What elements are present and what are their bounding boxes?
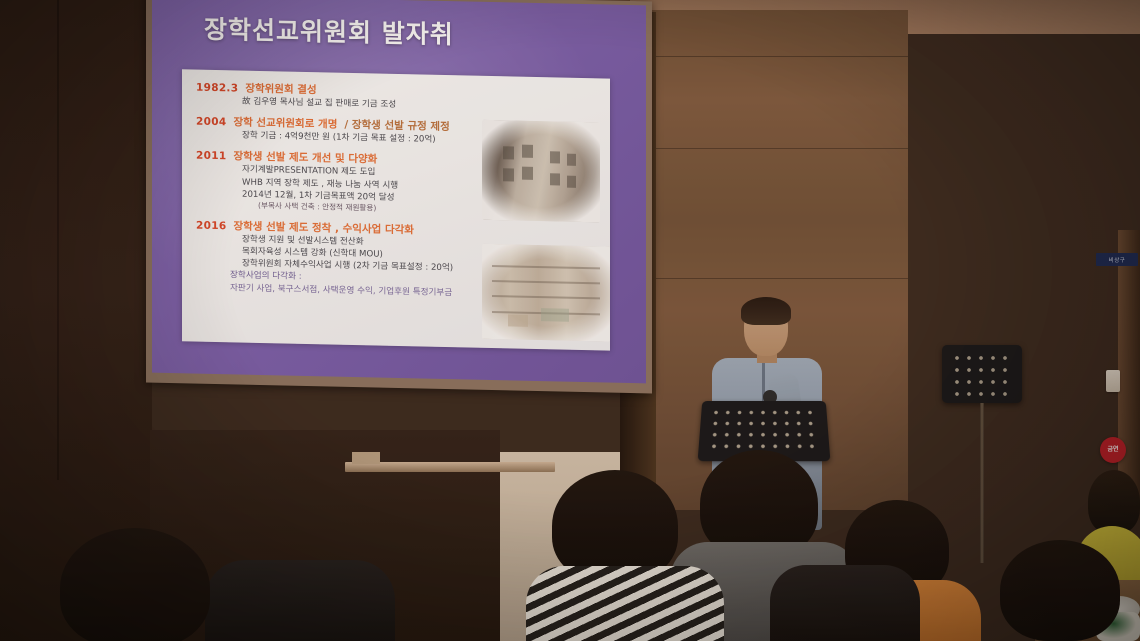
timeline-entry: 2011장학생 선발 제도 개선 및 다양화자기계발PRESENTATION 제… [196, 148, 496, 217]
entry-year: 2011 [196, 150, 226, 163]
audience-yellow-shirt [1088, 470, 1140, 534]
timeline-entry: 2004장학 선교위원회로 개명/ 장학생 선발 규정 제정장학 기금 : 4억… [196, 114, 496, 148]
no-smoking-sign: 금연 [1100, 437, 1126, 463]
photo-scene: 장학선교위원회 발자취 1982.3장학위원회 결성故 김우영 목사님 설교 집… [0, 0, 1140, 641]
audience-front-right [1000, 540, 1120, 641]
timeline-entries: 1982.3장학위원회 결성故 김우영 목사님 설교 집 판매로 기금 조성20… [196, 80, 496, 307]
timeline-entry: 2016장학생 선발 제도 정착 , 수익사업 다각화장학생 지원 및 선발시스… [196, 217, 496, 300]
presenter-hair [741, 297, 791, 325]
entry-heading-text: 장학위원회 결성 [245, 81, 316, 98]
bookstore-photo [482, 244, 610, 342]
entry-year: 1982.3 [196, 82, 238, 95]
ledge-object [352, 452, 380, 464]
exit-sign: 비상구 [1096, 253, 1138, 266]
light-switch[interactable] [1106, 370, 1120, 392]
building-photo [482, 120, 600, 223]
audience-gray-shirt [700, 450, 818, 558]
audience-front-left [60, 528, 210, 641]
entry-year: 2004 [196, 116, 226, 129]
slide-title: 장학선교위원회 발자취 [204, 10, 454, 51]
timeline-entry: 1982.3장학위원회 결성故 김우영 목사님 설교 집 판매로 기금 조성 [196, 80, 496, 114]
slide-content-box: 1982.3장학위원회 결성故 김우영 목사님 설교 집 판매로 기금 조성20… [182, 69, 610, 350]
audience-striped-shirt [552, 470, 678, 582]
right-wall [905, 22, 1140, 542]
entry-year: 2016 [196, 219, 226, 232]
music-stand-right [942, 345, 1022, 403]
chair-right [770, 565, 920, 641]
chair-left [205, 560, 395, 641]
presentation-slide: 장학선교위원회 발자취 1982.3장학위원회 결성故 김우영 목사님 설교 집… [152, 0, 646, 383]
